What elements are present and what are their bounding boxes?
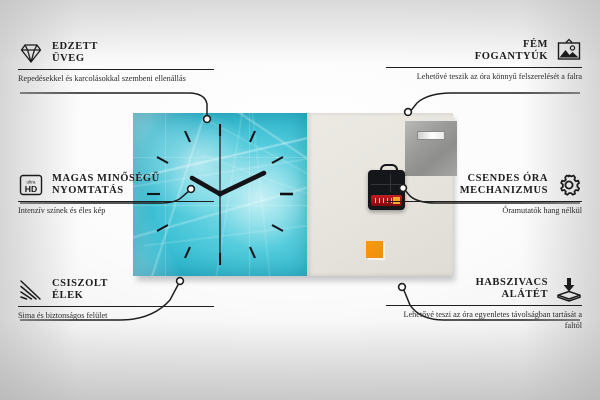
feature-title-line2: ALÁTÉT	[476, 289, 548, 302]
feature-divider	[386, 201, 582, 202]
gear-icon	[556, 172, 582, 198]
diamond-icon	[18, 40, 44, 66]
feature-title-line2: MECHANIZMUS	[460, 185, 548, 198]
feature-foam-pad: HABSZIVACS ALÁTÉT Lehetővé teszi az óra …	[386, 276, 582, 331]
feature-title-line1: CSISZOLT	[52, 278, 108, 291]
feature-silent-mechanism: CSENDES ÓRA MECHANIZMUS Óramutatók hang …	[386, 172, 582, 217]
feature-polished-edges: CSISZOLT ÉLEK Sima és biztonságos felüle…	[18, 277, 214, 322]
feature-divider	[18, 306, 214, 307]
feature-divider	[18, 69, 214, 70]
feature-header: EDZETT ÜVEG	[18, 40, 214, 66]
feature-title-line1: HABSZIVACS	[476, 277, 548, 290]
feature-description: Óramutatók hang nélkül	[386, 206, 582, 217]
feature-title: FÉM FOGANTYÚK	[475, 39, 548, 64]
feature-header: ultra HD MAGAS MINŐSÉGŰ NYOMTATÁS	[18, 172, 214, 198]
feature-description: Repedésekkel és karcolásokkal szembeni e…	[18, 74, 214, 85]
feature-header: CSENDES ÓRA MECHANIZMUS	[386, 172, 582, 198]
feature-divider	[386, 305, 582, 306]
feature-title: CSENDES ÓRA MECHANIZMUS	[460, 173, 548, 198]
feature-metal-hangers: FÉM FOGANTYÚK Lehetővé teszik az óra kön…	[386, 38, 582, 83]
feature-title-line1: MAGAS MINŐSÉGŰ	[52, 173, 160, 186]
feature-hd-print: ultra HD MAGAS MINŐSÉGŰ NYOMTATÁS Intenz…	[18, 172, 214, 217]
feature-divider	[18, 201, 214, 202]
infographic-canvas: EDZETT ÜVEG Repedésekkel és karcolásokka…	[0, 0, 600, 400]
connector-dot-hook	[405, 109, 412, 116]
feature-title: EDZETT ÜVEG	[52, 41, 98, 66]
polished-edge-icon	[18, 277, 44, 303]
feature-title: MAGAS MINŐSÉGŰ NYOMTATÁS	[52, 173, 160, 198]
feature-title-line2: FOGANTYÚK	[475, 51, 548, 64]
feature-tempered-glass: EDZETT ÜVEG Repedésekkel és karcolásokka…	[18, 40, 214, 85]
feature-title-line1: EDZETT	[52, 41, 98, 54]
feature-header: CSISZOLT ÉLEK	[18, 277, 214, 303]
feature-description: Sima és biztonságos felület	[18, 311, 214, 322]
feature-description: Lehetővé teszik az óra könnyű felszerelé…	[386, 72, 582, 83]
feature-description: Lehetővé teszi az óra egyenletes távolsá…	[386, 310, 582, 331]
feature-title: HABSZIVACS ALÁTÉT	[476, 277, 548, 302]
feature-title-line1: FÉM	[475, 39, 548, 52]
feature-header: FÉM FOGANTYÚK	[386, 38, 582, 64]
connector-hook	[409, 93, 580, 113]
feature-title: CSISZOLT ÉLEK	[52, 278, 108, 303]
connector-glass	[20, 93, 207, 117]
ultra-hd-icon: ultra HD	[18, 172, 44, 198]
svg-text:HD: HD	[25, 184, 37, 194]
feature-title-line2: NYOMTATÁS	[52, 185, 160, 198]
connector-dot-glass	[204, 116, 211, 123]
picture-hanger-icon	[556, 38, 582, 64]
feature-title-line1: CSENDES ÓRA	[460, 173, 548, 186]
feature-title-line2: ÜVEG	[52, 53, 98, 66]
feature-divider	[386, 67, 582, 68]
feature-header: HABSZIVACS ALÁTÉT	[386, 276, 582, 302]
feature-title-line2: ÉLEK	[52, 290, 108, 303]
feature-description: Intenzív színek és éles kép	[18, 206, 214, 217]
foam-pad-arrow-icon	[556, 276, 582, 302]
